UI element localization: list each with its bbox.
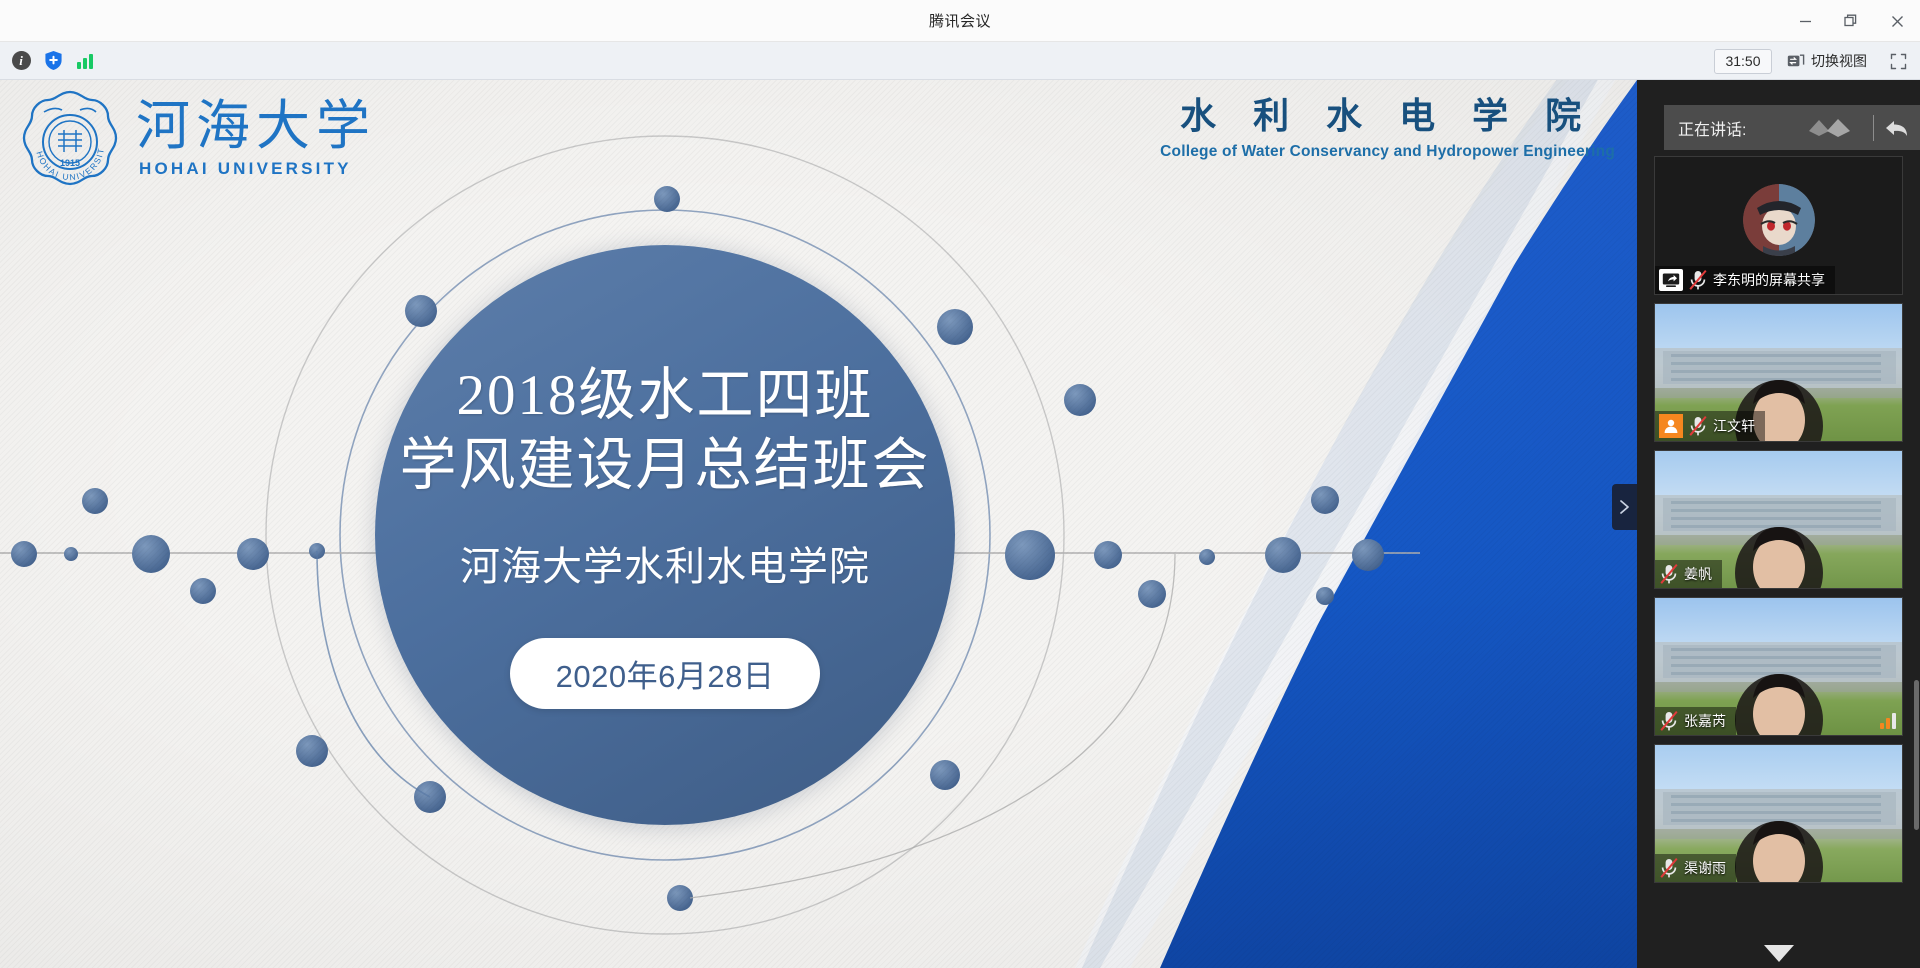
- shield-plus-icon: [44, 50, 63, 71]
- participant-name: 渠谢雨: [1684, 858, 1726, 878]
- panel-scrollbar[interactable]: [1914, 680, 1919, 830]
- slide-title-line2: 学风建设月总结班会: [400, 431, 931, 501]
- fullscreen-button[interactable]: [1884, 48, 1912, 74]
- window-controls: [1782, 0, 1920, 42]
- reply-arrow-icon[interactable]: [1884, 117, 1910, 139]
- participant-name: 江文轩: [1713, 416, 1755, 436]
- close-button[interactable]: [1874, 0, 1920, 42]
- tile-label: 姜帆: [1655, 560, 1722, 588]
- security-button[interactable]: [40, 48, 66, 74]
- window-title: 腾讯会议: [929, 10, 991, 31]
- meeting-info-button[interactable]: i: [8, 48, 34, 74]
- switch-view-button[interactable]: 切换视图: [1780, 48, 1876, 74]
- tile-label: 张嘉芮: [1655, 707, 1736, 735]
- switch-view-icon: [1787, 53, 1805, 70]
- info-icon: i: [12, 51, 31, 70]
- slide-content: 1915 HOHAI UNIVERSITY 河海大学 HOHAI UNIVERS…: [0, 80, 1637, 968]
- network-signal-icon: [77, 53, 93, 69]
- participant-name: 姜帆: [1684, 564, 1712, 584]
- minimize-button[interactable]: [1782, 0, 1828, 42]
- switch-view-label: 切换视图: [1811, 51, 1867, 71]
- close-icon: [1891, 15, 1904, 28]
- toolbar-right-group: 31:50 切换视图: [1714, 42, 1912, 80]
- collapse-panel-button[interactable]: [1612, 484, 1637, 530]
- slide-date-badge: 2020年6月28日: [510, 638, 821, 709]
- person-icon: [1663, 418, 1679, 434]
- host-badge-icon: [1659, 414, 1683, 438]
- tile-label: 渠谢雨: [1655, 854, 1736, 882]
- participant-panel: 正在讲话:: [1637, 80, 1920, 968]
- participant-name: 张嘉芮: [1684, 711, 1726, 731]
- scroll-down-button[interactable]: [1637, 942, 1920, 964]
- meeting-toolbar: i 31:50 切换视图: [0, 42, 1920, 80]
- minimize-icon: [1799, 15, 1812, 28]
- speaking-bar-actions: [1805, 115, 1910, 141]
- svg-text:1915: 1915: [60, 158, 80, 168]
- mic-muted-icon: [1688, 269, 1708, 291]
- hohai-university-logo: 1915 HOHAI UNIVERSITY 河海大学 HOHAI UNIVERS…: [18, 86, 376, 190]
- hohai-seal-icon: 1915 HOHAI UNIVERSITY: [18, 86, 122, 190]
- slide-title-line1: 2018级水工四班: [457, 361, 874, 431]
- mic-muted-icon: [1659, 710, 1679, 732]
- screen-share-icon: [1662, 272, 1680, 288]
- participant-tile[interactable]: 江文轩: [1654, 303, 1903, 442]
- college-logo: 水 利 水 电 学 院 College of Water Conservancy…: [1160, 92, 1615, 161]
- shared-screen-stage[interactable]: 1915 HOHAI UNIVERSITY 河海大学 HOHAI UNIVERS…: [0, 80, 1637, 968]
- maximize-button[interactable]: [1828, 0, 1874, 42]
- hohai-name-en: HOHAI UNIVERSITY: [139, 160, 376, 177]
- chevron-down-icon: [1762, 942, 1796, 964]
- meeting-timer: 31:50: [1714, 49, 1772, 74]
- hohai-name-cn: 河海大学: [136, 99, 376, 153]
- avatar-image: [1743, 184, 1815, 256]
- participant-tile[interactable]: 李东明的屏幕共享: [1654, 156, 1903, 295]
- tile-label: 江文轩: [1655, 411, 1765, 441]
- screen-share-badge-icon: [1659, 269, 1683, 291]
- mic-muted-icon: [1688, 415, 1708, 437]
- network-status-button[interactable]: [72, 48, 98, 74]
- hohai-wordmark: 河海大学 HOHAI UNIVERSITY: [136, 99, 376, 177]
- tile-signal-icon: [1880, 713, 1896, 729]
- college-name-cn: 水 利 水 电 学 院: [1160, 92, 1615, 141]
- chevron-right-icon: [1619, 499, 1630, 515]
- toolbar-left-group: i: [0, 48, 98, 74]
- participant-name: 李东明的屏幕共享: [1713, 270, 1825, 290]
- wechat-logo-icon: [1805, 115, 1863, 141]
- active-speaker-label: 正在讲话:: [1678, 116, 1746, 140]
- tile-label: 李东明的屏幕共享: [1655, 266, 1835, 294]
- participant-tile[interactable]: 渠谢雨: [1654, 744, 1903, 883]
- avatar: [1743, 184, 1815, 256]
- slide-subtitle: 河海大学水利水电学院: [460, 534, 870, 592]
- college-name-en: College of Water Conservancy and Hydropo…: [1160, 143, 1615, 161]
- mic-muted-icon: [1659, 563, 1679, 585]
- active-speaker-bar: 正在讲话:: [1664, 105, 1920, 150]
- restore-icon: [1844, 14, 1858, 28]
- slide-title-disc: 2018级水工四班 学风建设月总结班会 河海大学水利水电学院 2020年6月28…: [375, 245, 955, 825]
- participant-tiles: 李东明的屏幕共享: [1637, 156, 1920, 891]
- fullscreen-icon: [1890, 53, 1907, 70]
- window-titlebar: 腾讯会议: [0, 0, 1920, 42]
- presentation-slide: 1915 HOHAI UNIVERSITY 河海大学 HOHAI UNIVERS…: [0, 80, 1637, 968]
- toolbar-divider: [1873, 115, 1874, 141]
- mic-muted-icon: [1659, 857, 1679, 879]
- participant-tile[interactable]: 张嘉芮: [1654, 597, 1903, 736]
- participant-tile[interactable]: 姜帆: [1654, 450, 1903, 589]
